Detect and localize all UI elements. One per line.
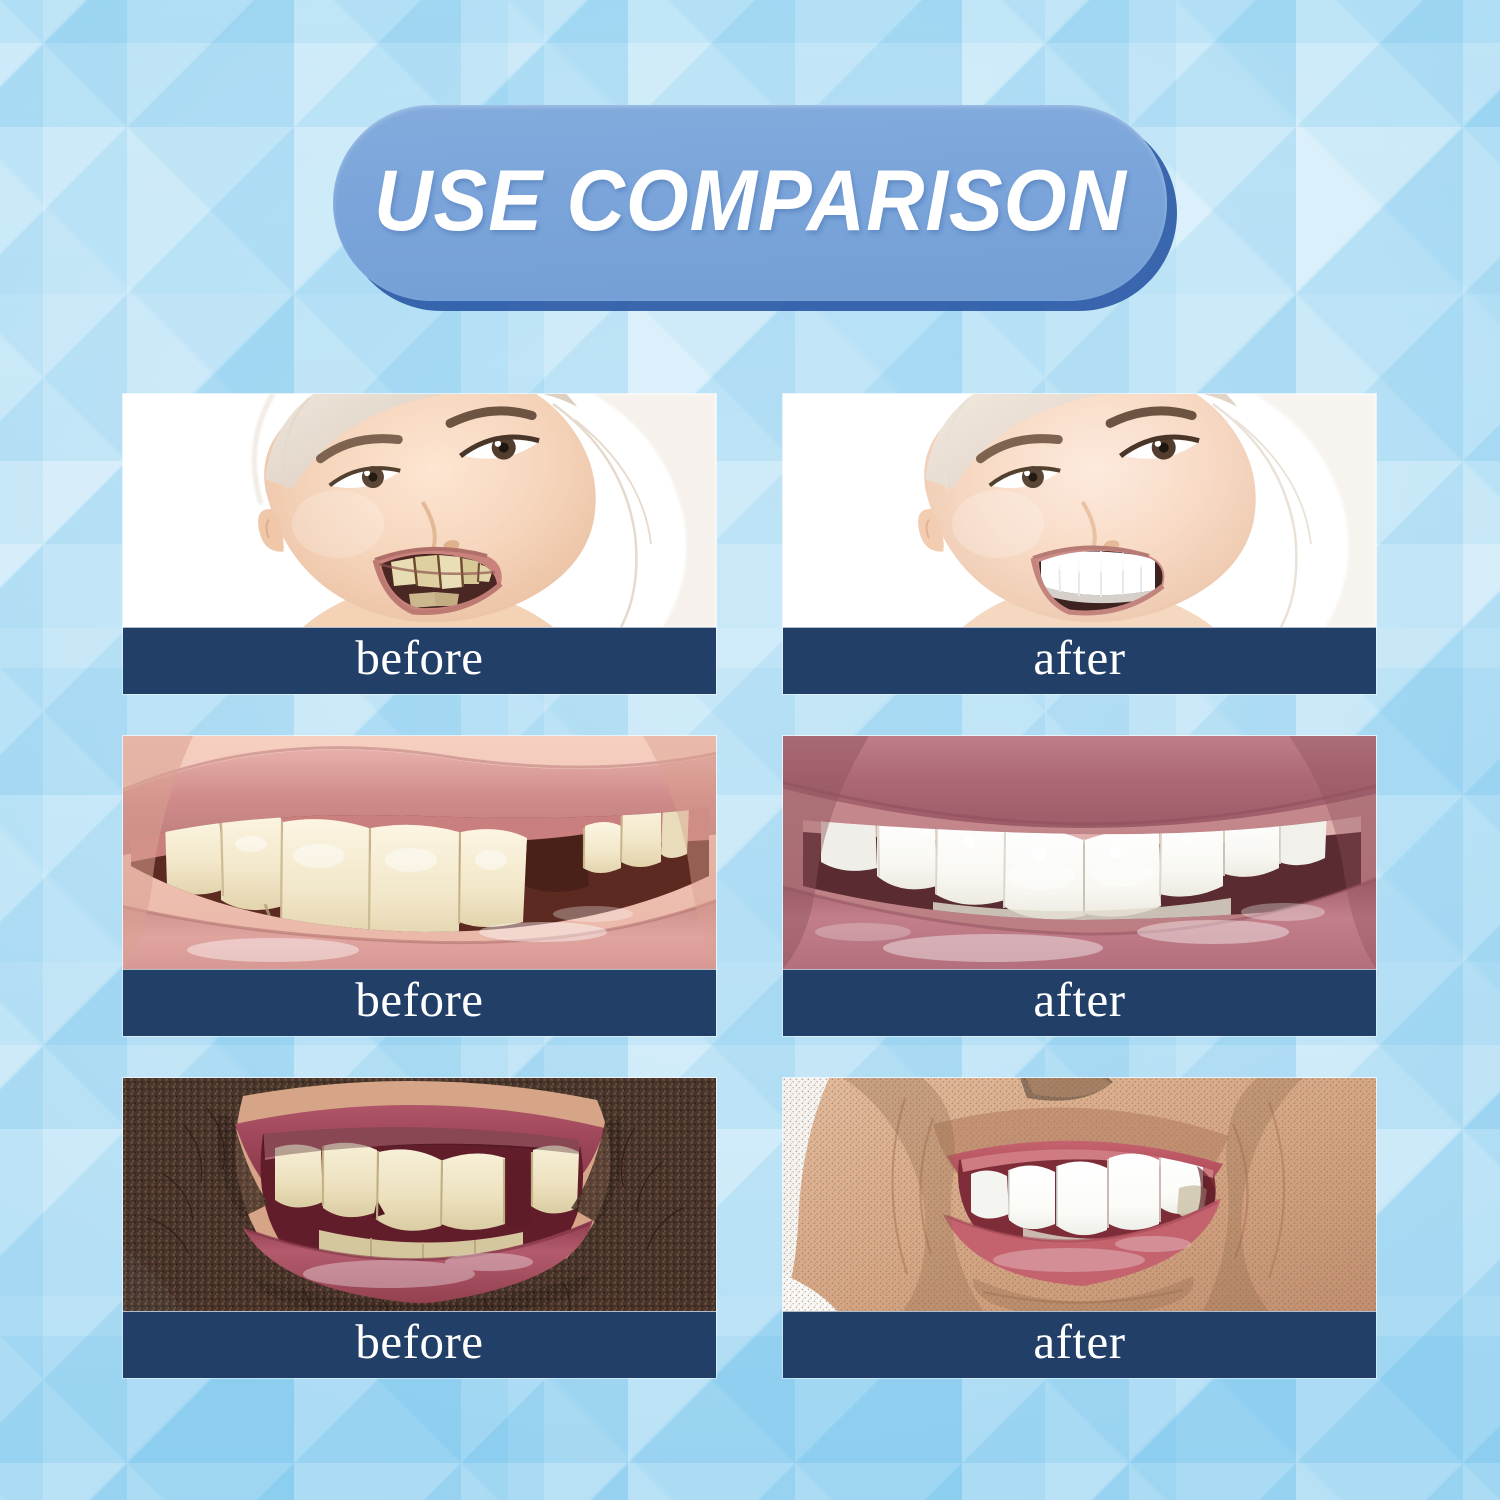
caption-bar: after [783,1311,1376,1378]
caption-bar: after [783,627,1376,694]
caption-label: before [355,1317,483,1372]
page-title: USE COMPARISON [374,158,1127,248]
card-row3-after: after [783,1078,1376,1378]
caption-label: after [1033,633,1125,688]
mouth-missing-tooth-gap-photo [123,736,716,969]
bearded-man-gapped-yellow-teeth-photo [123,1078,716,1311]
mouth-complete-white-teeth-photo [783,736,1376,969]
stubbled-man-bright-white-teeth-photo [783,1078,1376,1311]
comparison-infographic: USE COMPARISON [0,0,1500,1500]
woman-smiling-yellow-crooked-teeth-photo [123,394,716,627]
card-row2-before: before [123,736,716,1036]
caption-bar: before [123,1311,716,1378]
card-row3-before: before [123,1078,716,1378]
card-row1-before: before [123,394,716,694]
comparison-row-1: before [123,394,1376,694]
card-row2-after: after [783,736,1376,1036]
card-row1-after: after [783,394,1376,694]
caption-label: after [1033,1317,1125,1372]
caption-label: after [1033,975,1125,1030]
comparison-row-2: before [123,736,1376,1036]
title-banner: USE COMPARISON [333,105,1167,301]
caption-label: before [355,633,483,688]
caption-bar: after [783,969,1376,1036]
comparison-grid: before [123,394,1376,1378]
caption-label: before [355,975,483,1030]
woman-smiling-white-straight-teeth-photo [783,394,1376,627]
caption-bar: before [123,969,716,1036]
title-banner-face: USE COMPARISON [333,105,1167,301]
caption-bar: before [123,627,716,694]
comparison-row-3: before [123,1078,1376,1378]
